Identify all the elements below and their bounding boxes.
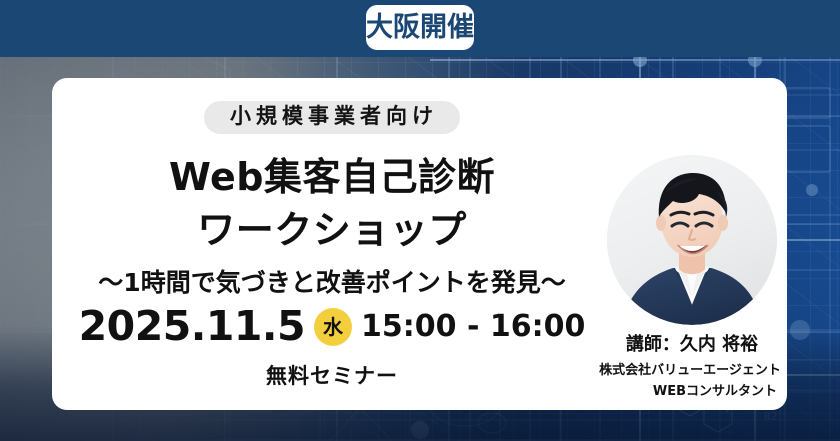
speaker-role: WEBコンサルタント: [597, 385, 783, 398]
title-line-2: ワークショップ: [52, 211, 612, 249]
region-badge: 大阪開催: [366, 5, 474, 50]
speaker-name: 講師：久内 将裕: [597, 336, 787, 354]
card-left-column: 小規模事業者向け Web集客自己診断 ワークショップ 〜1時間で気づきと改善ポイ…: [52, 78, 612, 410]
event-date: 2025.11.5: [79, 306, 305, 347]
content-card: 小規模事業者向け Web集客自己診断 ワークショップ 〜1時間で気づきと改善ポイ…: [52, 78, 787, 410]
region-badge-label: 大阪開催: [366, 14, 474, 41]
speaker-photo: [607, 155, 777, 325]
price-label: 無料セミナー: [52, 366, 612, 387]
weekday-badge: 水: [314, 308, 352, 346]
speaker-portrait-illustration: [607, 155, 777, 325]
title-line-1: Web集客自己診断: [52, 158, 612, 196]
speaker-company: 株式会社バリューエージェント: [597, 364, 783, 377]
event-subtitle: 〜1時間で気づきと改善ポイントを発見〜: [52, 270, 612, 295]
card-right-column: 講師：久内 将裕 株式会社バリューエージェント WEBコンサルタント: [597, 78, 787, 410]
audience-pill-label: 小規模事業者向け: [230, 104, 438, 128]
audience-pill: 小規模事業者向け: [204, 101, 460, 134]
date-time-row: 2025.11.5 水 15:00 - 16:00: [52, 306, 612, 347]
event-time: 15:00 - 16:00: [361, 312, 585, 342]
weekday-label: 水: [323, 317, 343, 337]
seminar-banner: 03 02 p 105: [0, 0, 840, 441]
